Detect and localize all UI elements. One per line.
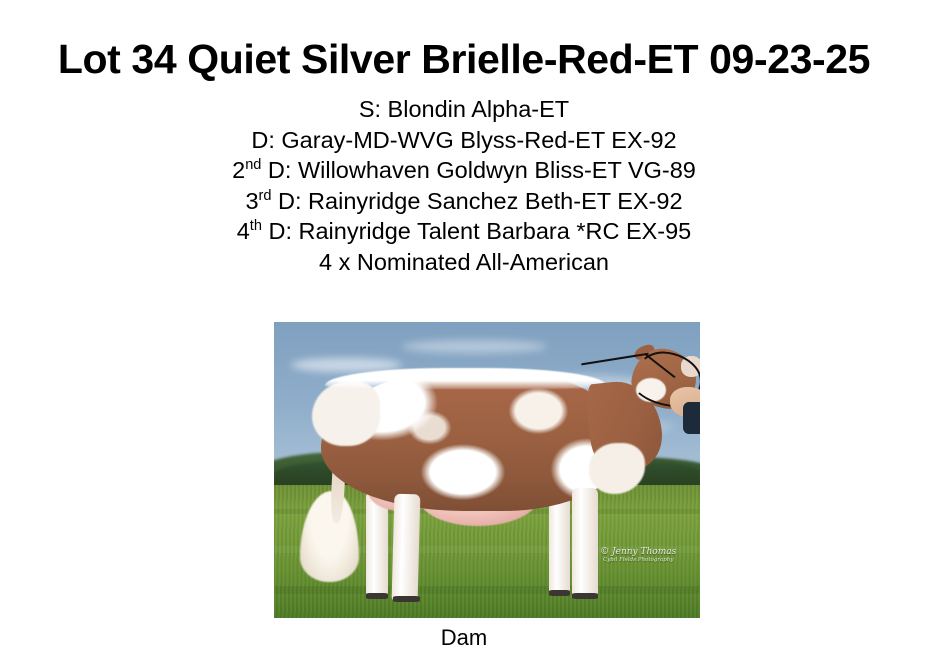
- pedigree-line-text: D: Garay-MD-WVG Blyss-Red-ET EX-92: [251, 127, 676, 153]
- pedigree-line-4th-dam: 4th D: Rainyridge Talent Barbara *RC EX-…: [0, 216, 928, 247]
- pedigree-ordinal-number: 4: [237, 218, 250, 244]
- hoof: [572, 593, 598, 600]
- pedigree-ordinal-number: 3: [245, 188, 258, 214]
- hoof: [366, 593, 388, 600]
- tail-switch: [300, 491, 360, 583]
- photo-scene: © Jenny Thomas Cybil Fields Photography: [274, 322, 700, 618]
- pedigree-line-3rd-dam: 3rd D: Rainyridge Sanchez Beth-ET EX-92: [0, 186, 928, 217]
- pedigree-ordinal-suffix: nd: [245, 157, 261, 173]
- pedigree-line-2nd-dam: 2nd D: Willowhaven Goldwyn Bliss-ET VG-8…: [0, 155, 928, 186]
- pedigree-line-award: 4 x Nominated All-American: [0, 247, 928, 278]
- page-title: Lot 34 Quiet Silver Brielle-Red-ET 09-23…: [0, 38, 928, 81]
- pedigree-ordinal-suffix: th: [250, 218, 262, 234]
- pedigree-line-sire: S: Blondin Alpha-ET: [0, 94, 928, 125]
- pedigree-line-text: S: Blondin Alpha-ET: [359, 96, 569, 122]
- pedigree-line-text: 4 x Nominated All-American: [319, 249, 609, 275]
- topline-white: [325, 368, 606, 389]
- cow-photo: © Jenny Thomas Cybil Fields Photography: [274, 322, 700, 618]
- photo-caption: Dam: [0, 624, 928, 652]
- pedigree-line-text: D: Rainyridge Talent Barbara *RC EX-95: [262, 218, 691, 244]
- pedigree-line-dam: D: Garay-MD-WVG Blyss-Red-ET EX-92: [0, 125, 928, 156]
- brisket-white-patch: [589, 443, 644, 493]
- front-leg-near: [572, 488, 598, 598]
- pedigree-block: S: Blondin Alpha-ET D: Garay-MD-WVG Blys…: [0, 94, 928, 277]
- rear-leg-near: [392, 493, 421, 600]
- hoof: [549, 590, 570, 597]
- hoof: [393, 596, 419, 603]
- pedigree-line-text: D: Rainyridge Sanchez Beth-ET EX-92: [272, 188, 683, 214]
- rump-white-patch: [312, 381, 380, 446]
- handler-sleeve: [683, 402, 700, 435]
- pedigree-line-text: D: Willowhaven Goldwyn Bliss-ET VG-89: [261, 157, 695, 183]
- cow-figure: [274, 322, 700, 618]
- pedigree-ordinal-number: 2: [232, 157, 245, 183]
- pedigree-ordinal-suffix: rd: [259, 188, 272, 204]
